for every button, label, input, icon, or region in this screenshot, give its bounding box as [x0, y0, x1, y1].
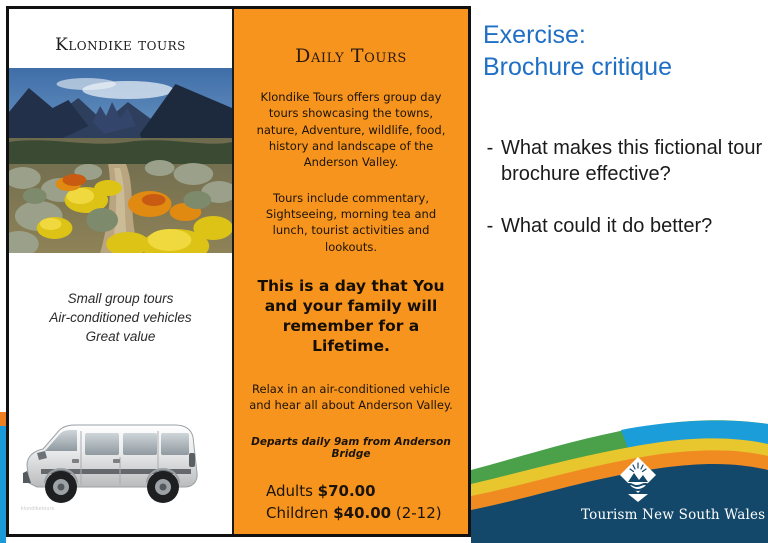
tagline-line-2: Air-conditioned vehicles [9, 308, 232, 327]
slide-title-line-1: Exercise: [483, 20, 763, 52]
price-row-children: Children $40.00 (2-12) [266, 502, 454, 525]
photo-credit: klondiketours [21, 506, 54, 512]
brochure-left-panel: Klondike tours [9, 9, 234, 534]
bullet-item-1: - What makes this fictional tour brochur… [479, 135, 764, 187]
departure-note: Departs daily 9am from Anderson Bridge [248, 436, 454, 460]
tagline-line-3: Great value [9, 327, 232, 346]
price-row-adults: Adults $70.00 [266, 480, 454, 503]
brochure-middle-panel: Daily Tours Klondike Tours offers group … [234, 9, 468, 534]
bullet-text-1: What makes this fictional tour brochure … [501, 135, 764, 187]
bullet-text-2: What could it do better? [501, 213, 764, 239]
slide-right-area: Exercise: Brochure critique - What makes… [471, 0, 768, 543]
price-label-children: Children [266, 504, 328, 522]
brochure-image: Klondike tours [6, 6, 471, 537]
slide-title-line-2: Brochure critique [483, 52, 763, 84]
desert-landscape-photo [9, 68, 232, 253]
price-list: Adults $70.00 Children $40.00 (2-12) [248, 480, 454, 525]
bullet-marker-icon: - [479, 135, 501, 187]
tourism-nsw-diamond-icon [617, 453, 659, 503]
tagline-line-1: Small group tours [9, 289, 232, 308]
intro-paragraph: Klondike Tours offers group day tours sh… [248, 89, 454, 171]
slide-title: Exercise: Brochure critique [483, 20, 763, 83]
bullet-marker-icon: - [479, 213, 501, 239]
brochure-company-title: Klondike tours [9, 35, 232, 55]
bullet-list: - What makes this fictional tour brochur… [479, 135, 764, 265]
bullet-item-2: - What could it do better? [479, 213, 764, 239]
includes-paragraph: Tours include commentary, Sightseeing, m… [248, 190, 454, 255]
tourism-nsw-wordmark: Tourism New South Wales [581, 507, 765, 523]
price-amount-adults: $70.00 [318, 482, 376, 500]
price-note-children: (2-12) [396, 504, 442, 522]
brochure-tagline: Small group tours Air-conditioned vehicl… [9, 289, 232, 346]
price-amount-children: $40.00 [333, 504, 391, 522]
relax-paragraph: Relax in an air-conditioned vehicle and … [248, 381, 454, 414]
slide-canvas: Klondike tours [0, 0, 768, 543]
lifetime-headline: This is a day that You and your family w… [248, 276, 454, 357]
minibus-photo [17, 407, 223, 517]
daily-tours-heading: Daily Tours [234, 45, 468, 67]
price-label-adults: Adults [266, 482, 313, 500]
